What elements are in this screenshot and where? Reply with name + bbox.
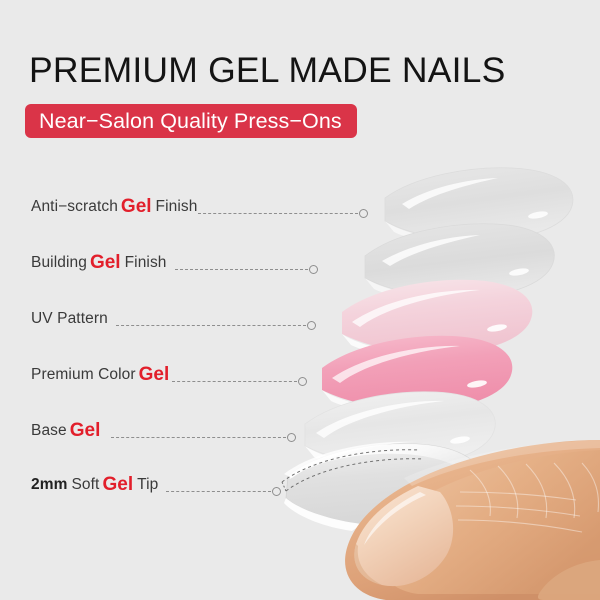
callout-uv-pattern-word-0: UV Pattern xyxy=(31,310,108,328)
layer-uv-pattern xyxy=(342,280,532,355)
layer-premium-color-gel xyxy=(322,336,512,411)
leader-endpoint-dot xyxy=(272,487,281,496)
callout-premium-color-gel-word-1: Gel xyxy=(136,364,173,386)
subtitle-badge: Near−Salon Quality Press−Ons xyxy=(25,104,357,138)
layer-soft-gel-tip xyxy=(282,442,484,531)
leader-dash xyxy=(116,325,306,326)
leader-endpoint-dot xyxy=(287,433,296,442)
leader-line-anti-scratch-gel-finish xyxy=(198,208,368,218)
layer-building-gel-finish xyxy=(365,224,554,299)
leader-endpoint-dot xyxy=(307,321,316,330)
leader-dash xyxy=(166,491,271,492)
callout-anti-scratch-gel-finish: Anti−scratchGelFinish xyxy=(31,196,368,218)
callout-2mm-soft-gel-tip: 2mmSoftGelTip xyxy=(31,474,281,496)
callout-building-gel-finish: BuildingGelFinish xyxy=(31,252,318,274)
callout-2mm-soft-gel-tip-word-0: 2mm xyxy=(31,476,67,494)
leader-dash xyxy=(111,437,286,438)
callout-uv-pattern: UV Pattern xyxy=(31,308,316,330)
page-title: PREMIUM GEL MADE NAILS xyxy=(29,50,506,91)
leader-line-base-gel xyxy=(111,432,296,442)
layer-base-gel xyxy=(305,392,495,467)
leader-line-2mm-soft-gel-tip xyxy=(166,486,281,496)
leader-line-uv-pattern xyxy=(116,320,316,330)
callout-anti-scratch-gel-finish-word-2: Finish xyxy=(156,198,198,216)
callout-2mm-soft-gel-tip-word-2: Gel xyxy=(99,474,136,496)
callout-anti-scratch-gel-finish-word-1: Gel xyxy=(118,196,155,218)
leader-endpoint-dot xyxy=(359,209,368,218)
subtitle-badge-label: Near−Salon Quality Press−Ons xyxy=(39,109,342,134)
callout-2mm-soft-gel-tip-word-1: Soft xyxy=(71,476,99,494)
fingertip xyxy=(345,440,600,600)
leader-line-building-gel-finish xyxy=(175,264,318,274)
callout-premium-color-gel-word-0: Premium Color xyxy=(31,366,136,384)
callout-building-gel-finish-word-1: Gel xyxy=(87,252,124,274)
callout-premium-color-gel: Premium ColorGel xyxy=(31,364,307,386)
leader-line-premium-color-gel xyxy=(172,376,307,386)
callout-building-gel-finish-word-0: Building xyxy=(31,254,87,272)
leader-endpoint-dot xyxy=(298,377,307,386)
callout-anti-scratch-gel-finish-word-0: Anti−scratch xyxy=(31,198,118,216)
leader-dash xyxy=(172,381,297,382)
callout-base-gel-word-0: Base xyxy=(31,422,67,440)
leader-dash xyxy=(198,213,358,214)
callout-2mm-soft-gel-tip-word-3: Tip xyxy=(137,476,158,494)
leader-endpoint-dot xyxy=(309,265,318,274)
layer-anti-scratch-gel-finish xyxy=(385,168,573,242)
callout-building-gel-finish-word-2: Finish xyxy=(125,254,167,272)
callout-base-gel-word-1: Gel xyxy=(67,420,104,442)
leader-dash xyxy=(175,269,308,270)
callout-base-gel: BaseGel xyxy=(31,420,296,442)
product-infographic: PREMIUM GEL MADE NAILS Near−Salon Qualit… xyxy=(0,0,600,600)
